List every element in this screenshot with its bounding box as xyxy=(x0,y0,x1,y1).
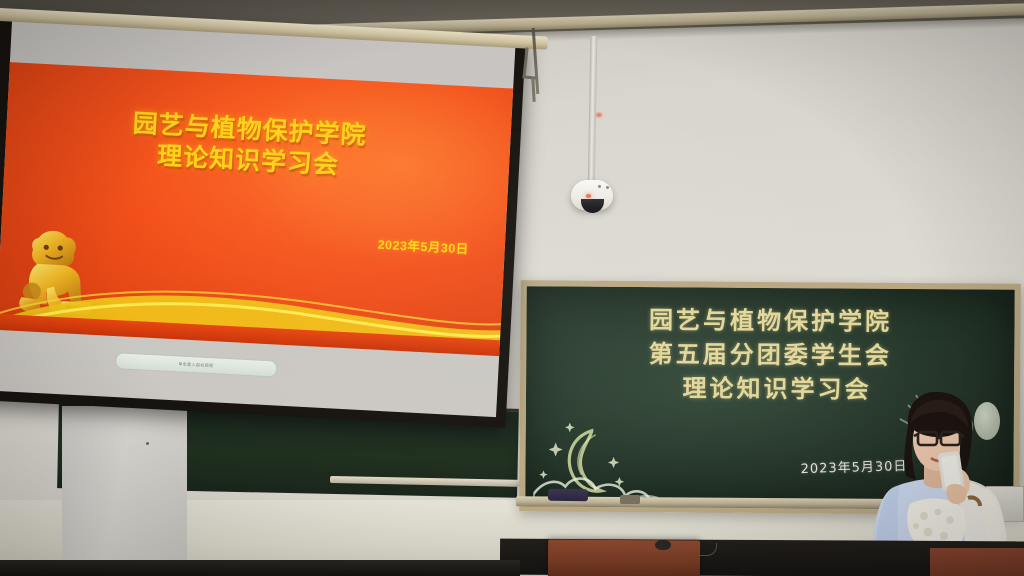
camera-screw-icon xyxy=(606,186,609,189)
blackboard-line-1: 园艺与植物保护学院 xyxy=(534,302,1006,339)
red-laser-dot-icon xyxy=(596,113,602,117)
wall-pillar xyxy=(62,406,187,576)
presentation-slide: 园艺与植物保护学院 理论知识学习会 2023年5月30日 xyxy=(0,62,513,356)
mouse-cable xyxy=(668,543,717,556)
blackboard-clip xyxy=(620,495,640,504)
camera-screw-icon xyxy=(598,185,601,188)
ceiling-hook-clip-icon xyxy=(524,78,535,102)
wooden-podium-right xyxy=(930,548,1024,576)
projector-screen[interactable]: 园艺与植物保护学院 理论知识学习会 2023年5月30日 xyxy=(0,10,526,427)
left-desk-edge xyxy=(0,560,520,576)
projector-osd-text: 单击置入副标题框 xyxy=(178,361,214,368)
classroom-photo-scene: 园艺与植物保护学院 第五届分团委学生会 理论知识学习会 2023年5月30日 园… xyxy=(0,0,1024,576)
blackboard-eraser[interactable] xyxy=(548,489,588,502)
pillar-screw-icon xyxy=(146,442,149,445)
blackboard-line-2: 第五届分团委学生会 xyxy=(534,336,1006,373)
projector-osd-bar[interactable]: 单击置入副标题框 xyxy=(115,352,278,377)
screen-surface: 园艺与植物保护学院 理论知识学习会 2023年5月30日 xyxy=(0,20,515,417)
camera-led-icon xyxy=(586,194,591,198)
